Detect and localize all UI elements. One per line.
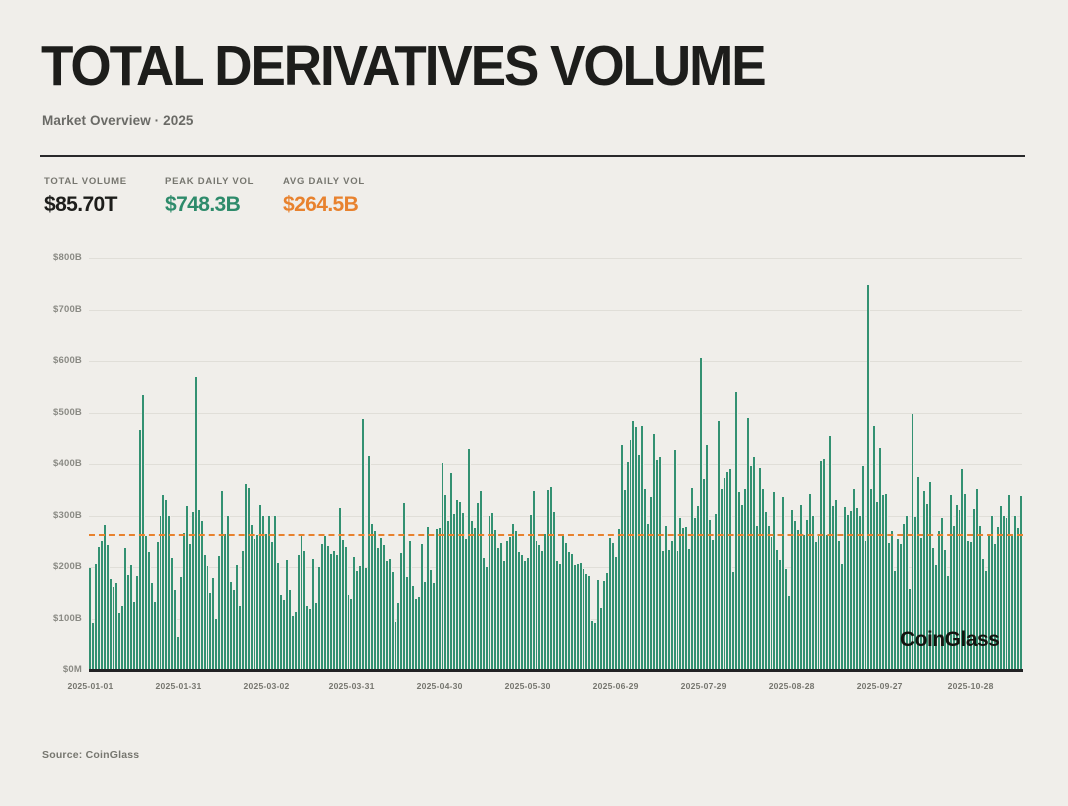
bar: [245, 484, 248, 670]
bar: [612, 543, 615, 670]
bar: [151, 583, 154, 670]
bar: [988, 536, 991, 670]
bar: [204, 555, 207, 670]
bar: [444, 495, 447, 670]
bar: [180, 577, 183, 670]
bar: [509, 537, 512, 670]
bar: [797, 530, 800, 670]
bar: [104, 525, 107, 670]
kpi-avg-daily-vol-label: AVG DAILY VOL: [283, 176, 365, 187]
bar: [647, 524, 650, 670]
kpi-peak-daily-vol-value: $748.3B: [165, 193, 254, 217]
bar: [277, 563, 280, 670]
bar: [724, 478, 727, 670]
bar: [779, 560, 782, 670]
bar: [315, 603, 318, 670]
bar: [697, 506, 700, 670]
bar: [856, 508, 859, 670]
bar: [365, 568, 368, 670]
bar: [195, 377, 198, 670]
bar: [474, 528, 477, 670]
bar: [342, 540, 345, 670]
bar: [638, 455, 641, 670]
gridline: [89, 464, 1022, 465]
bar: [409, 541, 412, 670]
bar: [800, 505, 803, 670]
header-divider: [40, 155, 1025, 157]
bar: [832, 506, 835, 670]
bar: [136, 576, 139, 670]
bar: [1000, 506, 1003, 670]
bar: [662, 551, 665, 670]
bar: [207, 566, 210, 670]
bar: [671, 541, 674, 670]
bar: [771, 537, 774, 670]
bar: [330, 554, 333, 670]
bar: [694, 518, 697, 670]
bar: [383, 545, 386, 670]
bar: [418, 597, 421, 670]
bar: [286, 560, 289, 670]
bar: [762, 489, 765, 670]
bar: [556, 561, 559, 670]
bar: [835, 500, 838, 670]
bar: [101, 541, 104, 670]
bar: [941, 518, 944, 670]
bar: [289, 590, 292, 670]
bar: [113, 587, 116, 670]
bar: [765, 512, 768, 670]
bar: [959, 510, 962, 670]
bar: [538, 545, 541, 670]
gridline: [89, 361, 1022, 362]
bar: [1017, 528, 1020, 670]
bar: [524, 561, 527, 670]
bar: [953, 526, 956, 670]
bar: [177, 637, 180, 670]
average-volume-line: [89, 534, 1023, 536]
bar: [859, 516, 862, 670]
bar: [791, 510, 794, 670]
bar: [174, 590, 177, 670]
bar: [691, 488, 694, 670]
bar: [500, 543, 503, 670]
bar: [935, 565, 938, 670]
kpi-total-volume: TOTAL VOLUME $85.70T: [44, 176, 127, 217]
bar: [521, 555, 524, 670]
kpi-total-volume-label: TOTAL VOLUME: [44, 176, 127, 187]
bar: [803, 535, 806, 670]
bar: [368, 456, 371, 670]
bar: [882, 495, 885, 670]
bar: [312, 559, 315, 670]
bar: [873, 426, 876, 670]
x-axis-tick: 2025-01-31: [138, 681, 218, 691]
bar: [900, 544, 903, 670]
bar: [345, 547, 348, 670]
bar: [283, 600, 286, 670]
bar: [1020, 496, 1022, 670]
bar: [142, 395, 145, 670]
bar: [850, 511, 853, 670]
bar: [970, 542, 973, 670]
bar: [491, 513, 494, 670]
bar: [421, 544, 424, 670]
bar: [271, 542, 274, 670]
bar: [618, 529, 621, 670]
bar: [706, 445, 709, 670]
bar: [298, 555, 301, 670]
y-axis-tick: $500B: [26, 407, 82, 418]
bar: [876, 502, 879, 670]
bar: [738, 492, 741, 670]
bar: [306, 606, 309, 670]
bar: [847, 515, 850, 670]
bar: [280, 595, 283, 670]
bar: [236, 565, 239, 670]
bar: [709, 520, 712, 670]
bar: [906, 516, 909, 671]
bar: [301, 535, 304, 670]
bar: [747, 418, 750, 670]
bar: [406, 577, 409, 670]
bar: [559, 564, 562, 670]
bar: [806, 520, 809, 670]
bar: [362, 419, 365, 670]
bar: [256, 535, 259, 670]
bar: [380, 538, 383, 670]
bar: [982, 559, 985, 670]
x-axis-tick: 2025-04-30: [400, 681, 480, 691]
bar: [227, 516, 230, 670]
bar: [262, 516, 265, 671]
bar: [468, 449, 471, 670]
bar: [292, 616, 295, 670]
bar: [324, 536, 327, 670]
bar: [374, 531, 377, 670]
bar: [591, 621, 594, 670]
bar: [677, 551, 680, 670]
bar: [650, 497, 653, 670]
bar: [782, 497, 785, 670]
gridline: [89, 567, 1022, 568]
bar: [885, 494, 888, 670]
x-axis-tick: 2025-06-29: [576, 681, 656, 691]
bar: [644, 489, 647, 670]
bar: [732, 572, 735, 670]
bar: [838, 541, 841, 670]
bar: [594, 623, 597, 670]
bar: [841, 564, 844, 670]
bar: [397, 603, 400, 670]
bar: [726, 472, 729, 670]
bar: [447, 521, 450, 670]
bar: [356, 571, 359, 670]
bar: [879, 448, 882, 670]
bar: [483, 558, 486, 670]
bar: [168, 516, 171, 671]
bar: [759, 468, 762, 670]
bar: [944, 550, 947, 670]
bar: [853, 489, 856, 670]
bar: [785, 569, 788, 670]
bar: [812, 516, 815, 670]
bar: [588, 576, 591, 670]
gridline: [89, 413, 1022, 414]
y-axis-tick: $200B: [26, 561, 82, 572]
bar: [489, 516, 492, 671]
bar: [154, 602, 157, 670]
bar: [121, 606, 124, 670]
bar: [309, 609, 312, 670]
bar: [233, 590, 236, 670]
bar: [794, 521, 797, 670]
bar: [230, 582, 233, 670]
bar: [318, 567, 321, 670]
bar: [239, 606, 242, 670]
bar: [776, 550, 779, 670]
bar: [741, 505, 744, 670]
bar: [218, 556, 221, 670]
bar: [568, 552, 571, 670]
bar: [583, 569, 586, 670]
kpi-avg-daily-vol-value: $264.5B: [283, 193, 365, 217]
bar: [124, 548, 127, 670]
bar: [544, 534, 547, 670]
bar: [938, 531, 941, 670]
bar: [395, 622, 398, 670]
bar: [768, 526, 771, 670]
bar: [809, 494, 812, 670]
bar: [477, 503, 480, 670]
bar: [870, 489, 873, 670]
bar: [585, 574, 588, 670]
bar: [506, 541, 509, 670]
bar: [494, 530, 497, 670]
bar: [321, 544, 324, 670]
bar: [735, 392, 738, 670]
bar: [615, 557, 618, 670]
bar: [997, 527, 1000, 670]
bar: [403, 503, 406, 670]
bar: [547, 490, 550, 670]
bar: [456, 500, 459, 670]
bar: [729, 469, 732, 670]
bar: [632, 421, 635, 670]
bar: [242, 551, 245, 670]
bar: [115, 583, 118, 670]
bar: [1014, 516, 1017, 671]
bar: [956, 505, 959, 670]
bar: [186, 506, 189, 670]
gridline: [89, 619, 1022, 620]
bar: [685, 527, 688, 670]
bar: [964, 494, 967, 670]
bar: [961, 469, 964, 670]
bar: [541, 551, 544, 670]
bar: [577, 564, 580, 670]
bar: [844, 507, 847, 670]
bar: [703, 479, 706, 670]
bar: [659, 457, 662, 670]
bar: [371, 524, 374, 670]
bar: [536, 541, 539, 670]
kpi-total-volume-value: $85.70T: [44, 193, 127, 217]
bar: [462, 513, 465, 670]
bar: [201, 521, 204, 670]
bar: [336, 555, 339, 670]
bar: [412, 586, 415, 670]
bar: [773, 492, 776, 670]
bar: [92, 623, 95, 670]
bar: [550, 487, 553, 670]
kpi-peak-daily-vol-label: PEAK DAILY VOL: [165, 176, 254, 187]
bar: [621, 445, 624, 670]
bar: [867, 285, 870, 670]
bar: [700, 358, 703, 670]
page-title: TOTAL DERIVATIVES VOLUME: [41, 38, 765, 95]
bar: [750, 466, 753, 670]
y-axis-tick: $600B: [26, 355, 82, 366]
bar: [571, 554, 574, 670]
bar: [198, 510, 201, 670]
bar: [157, 542, 160, 670]
bar: [897, 539, 900, 670]
bar: [350, 599, 353, 670]
bar: [656, 460, 659, 670]
bar: [251, 525, 254, 670]
bar: [674, 450, 677, 670]
y-axis-tick: $800B: [26, 252, 82, 263]
bar: [862, 466, 865, 670]
chart-page: TOTAL DERIVATIVES VOLUME Market Overview…: [0, 0, 1068, 806]
kpi-strip: TOTAL VOLUME $85.70T PEAK DAILY VOL $748…: [0, 176, 1068, 216]
bar: [715, 514, 718, 670]
bar: [450, 473, 453, 670]
bar: [512, 524, 515, 670]
bar: [609, 538, 612, 670]
bar: [888, 543, 891, 670]
bar: [894, 571, 897, 670]
bar: [118, 613, 121, 670]
bar: [826, 535, 829, 670]
x-axis-tick: 2025-07-29: [664, 681, 744, 691]
bar: [415, 599, 418, 670]
bar: [994, 544, 997, 670]
bar: [903, 524, 906, 670]
kpi-avg-daily-vol: AVG DAILY VOL $264.5B: [283, 176, 365, 217]
bar: [133, 602, 136, 670]
bar: [139, 430, 142, 671]
bar: [682, 528, 685, 670]
bar: [565, 543, 568, 670]
bar: [192, 512, 195, 670]
bar: [920, 538, 923, 670]
bar: [580, 563, 583, 670]
bar: [339, 508, 342, 670]
bar: [909, 589, 912, 670]
bar: [688, 549, 691, 670]
bar: [829, 436, 832, 670]
source-footer: Source: CoinGlass: [42, 749, 139, 761]
bar: [127, 575, 130, 670]
bar: [630, 440, 633, 670]
gridline: [89, 310, 1022, 311]
bar: [221, 491, 224, 670]
bar: [427, 527, 430, 670]
y-axis-tick: $0M: [26, 664, 82, 675]
bar: [209, 593, 212, 670]
bar: [265, 534, 268, 670]
bar: [712, 540, 715, 670]
bar: [348, 595, 351, 670]
bar: [327, 546, 330, 670]
bar: [148, 552, 151, 670]
bar: [553, 512, 556, 670]
bar: [160, 516, 163, 671]
bar: [679, 518, 682, 670]
bar: [929, 482, 932, 670]
bar: [818, 534, 821, 670]
bar: [442, 463, 445, 670]
bar: [815, 542, 818, 670]
bar: [503, 561, 506, 670]
bar: [606, 573, 609, 670]
bar: [224, 534, 227, 670]
bar: [976, 489, 979, 670]
bar: [635, 427, 638, 670]
bar: [459, 502, 462, 670]
kpi-peak-daily-vol: PEAK DAILY VOL $748.3B: [165, 176, 254, 217]
bar: [668, 550, 671, 671]
bar: [424, 582, 427, 670]
bar: [600, 608, 603, 670]
bar: [248, 488, 251, 670]
bar: [1008, 495, 1011, 670]
x-axis-tick: 2025-09-27: [840, 681, 920, 691]
bar: [359, 566, 362, 670]
bar: [627, 462, 630, 670]
x-axis-tick: 2025-03-31: [312, 681, 392, 691]
bar: [1011, 535, 1014, 670]
bar: [480, 491, 483, 670]
y-axis-tick: $400B: [26, 458, 82, 469]
bar: [165, 500, 168, 670]
page-subtitle: Market Overview · 2025: [42, 113, 194, 128]
bar: [744, 489, 747, 670]
bar: [823, 459, 826, 670]
bar: [985, 571, 988, 670]
bar: [389, 559, 392, 670]
bar: [400, 553, 403, 670]
bar: [515, 531, 518, 670]
bar: [465, 539, 468, 670]
bar: [1006, 518, 1009, 670]
x-axis-tick: 2025-01-01: [50, 681, 130, 691]
bar: [756, 526, 759, 670]
bar: [950, 495, 953, 670]
bar: [947, 576, 950, 670]
bar: [433, 583, 436, 670]
bar: [95, 564, 98, 670]
bar: [530, 515, 533, 670]
bar: [215, 619, 218, 671]
bar: [98, 547, 101, 670]
bar: [820, 461, 823, 670]
bar: [353, 557, 356, 670]
y-axis-tick: $300B: [26, 510, 82, 521]
bar: [891, 531, 894, 670]
